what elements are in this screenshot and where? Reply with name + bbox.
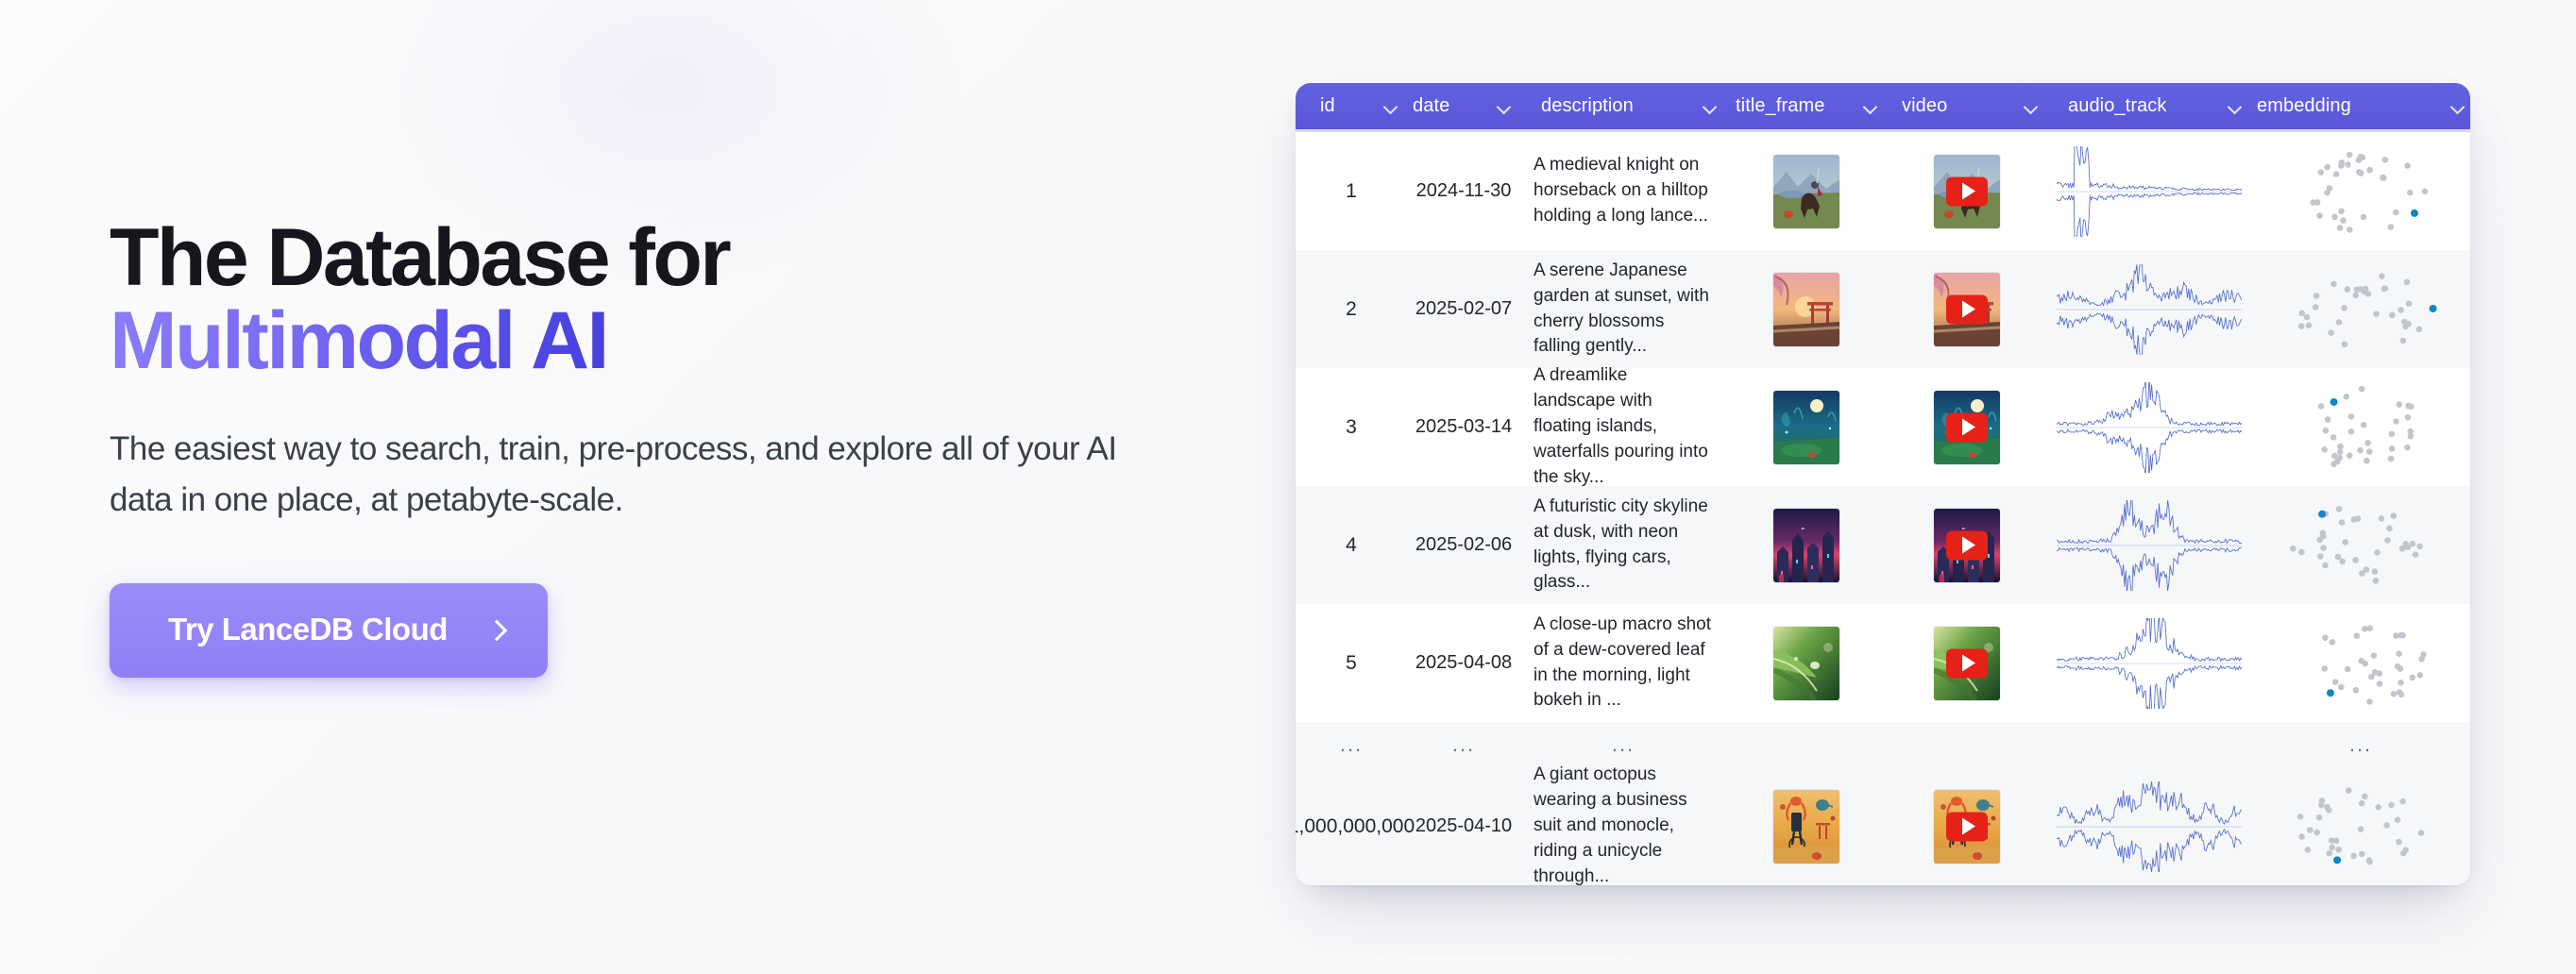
- play-button-icon[interactable]: [1946, 812, 1988, 841]
- column-header-title-frame[interactable]: title_frame: [1726, 83, 1887, 129]
- cell-video: [1887, 604, 2047, 722]
- knight-on-horseback-video[interactable]: [1934, 155, 2000, 228]
- ellipsis-cell: ...: [1407, 722, 1520, 767]
- chevron-down-icon[interactable]: [2228, 99, 2242, 113]
- cell-audio-track: [2047, 767, 2251, 885]
- table-ellipsis-row: .....................: [1296, 722, 2470, 767]
- dreamlike-landscape-video[interactable]: [1934, 391, 2000, 464]
- audio-waveform-swell[interactable]: [2057, 618, 2242, 709]
- cell-title-frame: [1726, 604, 1887, 722]
- table-row[interactable]: 22025-02-07A serene Japanese garden at s…: [1296, 250, 2470, 368]
- embedding-scatter-plot[interactable]: [2277, 614, 2445, 713]
- audio-waveform-noisy[interactable]: [2057, 781, 2242, 872]
- cell-title-frame: [1726, 486, 1887, 604]
- table-row[interactable]: 52025-04-08A close-up macro shot of a de…: [1296, 604, 2470, 722]
- chevron-down-icon[interactable]: [1863, 99, 1877, 113]
- play-button-icon[interactable]: [1946, 294, 1988, 324]
- futuristic-city-skyline-video[interactable]: [1934, 509, 2000, 582]
- column-header-audio-track[interactable]: audio_track: [2047, 83, 2251, 129]
- cell-audio-track: [2047, 604, 2251, 722]
- audio-waveform-twin-peaks[interactable]: [2057, 500, 2242, 591]
- cell-video: [1887, 486, 2047, 604]
- cell-embedding: [2251, 604, 2470, 722]
- cell-audio-track: [2047, 132, 2251, 250]
- column-header-date[interactable]: date: [1407, 83, 1520, 129]
- embedding-scatter-plot[interactable]: [2277, 778, 2445, 876]
- cell-id: 4: [1296, 486, 1407, 604]
- chevron-down-icon[interactable]: [1703, 99, 1717, 113]
- data-table-card: id date description title_frame video au…: [1296, 83, 2470, 885]
- chevron-down-icon[interactable]: [1497, 99, 1511, 113]
- cell-id: 3: [1296, 368, 1407, 486]
- page-subtitle: The easiest way to search, train, pre-pr…: [110, 424, 1181, 524]
- page-title-line-1: The Database for: [110, 212, 729, 303]
- column-header-label: id: [1320, 95, 1335, 117]
- chevron-down-icon[interactable]: [2024, 99, 2038, 113]
- cell-audio-track: [2047, 250, 2251, 368]
- play-button-icon[interactable]: [1946, 530, 1988, 560]
- column-header-label: title_frame: [1736, 95, 1824, 117]
- cell-title-frame: [1726, 132, 1887, 250]
- cell-id: 2: [1296, 250, 1407, 368]
- cell-id: 1,000,000,000: [1296, 767, 1407, 885]
- ellipsis-cell: ...: [2251, 722, 2470, 767]
- cell-id: 1: [1296, 132, 1407, 250]
- cell-embedding: [2251, 486, 2470, 604]
- giant-octopus-thumbnail[interactable]: [1773, 790, 1839, 864]
- dew-covered-leaf-video[interactable]: [1934, 627, 2000, 700]
- cell-description: A close-up macro shot of a dew-covered l…: [1520, 604, 1726, 722]
- cell-description: A serene Japanese garden at sunset, with…: [1520, 250, 1726, 368]
- cell-embedding: [2251, 767, 2470, 885]
- cell-description: A futuristic city skyline at dusk, with …: [1520, 486, 1726, 604]
- dreamlike-landscape-thumbnail[interactable]: [1773, 391, 1839, 464]
- knight-on-horseback-thumbnail[interactable]: [1773, 155, 1839, 228]
- play-button-icon[interactable]: [1946, 176, 1988, 206]
- cell-description: A medieval knight on horseback on a hill…: [1520, 132, 1726, 250]
- embedding-scatter-plot[interactable]: [2277, 378, 2445, 477]
- cell-date: 2025-02-07: [1407, 250, 1520, 368]
- play-button-icon[interactable]: [1946, 412, 1988, 442]
- cell-date: 2025-03-14: [1407, 368, 1520, 486]
- cell-audio-track: [2047, 368, 2251, 486]
- cell-video: [1887, 132, 2047, 250]
- cell-title-frame: [1726, 767, 1887, 885]
- japanese-garden-sunset-thumbnail[interactable]: [1773, 273, 1839, 346]
- column-header-label: audio_track: [2068, 95, 2167, 117]
- column-header-description[interactable]: description: [1520, 83, 1726, 129]
- chevron-down-icon[interactable]: [2450, 99, 2465, 113]
- ellipsis-cell: ...: [1726, 722, 1887, 767]
- column-header-label: video: [1902, 95, 1947, 117]
- ellipsis-cell: ...: [2047, 722, 2251, 767]
- table-row[interactable]: 42025-02-06A futuristic city skyline at …: [1296, 486, 2470, 604]
- column-header-id[interactable]: id: [1296, 83, 1407, 129]
- column-header-label: description: [1541, 95, 1634, 117]
- table-body: 12024-11-30A medieval knight on horsebac…: [1296, 132, 2470, 885]
- cell-description: A dreamlike landscape with floating isla…: [1520, 368, 1726, 486]
- cell-video: [1887, 368, 2047, 486]
- table-row[interactable]: 12024-11-30A medieval knight on horsebac…: [1296, 132, 2470, 250]
- column-header-label: date: [1413, 95, 1449, 117]
- cell-video: [1887, 767, 2047, 885]
- play-button-icon[interactable]: [1946, 648, 1988, 678]
- dew-covered-leaf-thumbnail[interactable]: [1773, 627, 1839, 700]
- embedding-scatter-plot[interactable]: [2277, 496, 2445, 595]
- ellipsis-cell: ...: [1296, 722, 1407, 767]
- ellipsis-cell: ...: [1520, 722, 1726, 767]
- chevron-down-icon[interactable]: [1383, 99, 1398, 113]
- cell-id: 5: [1296, 604, 1407, 722]
- cell-date: 2025-04-10: [1407, 767, 1520, 885]
- column-header-embedding[interactable]: embedding: [2251, 83, 2470, 129]
- cell-date: 2025-04-08: [1407, 604, 1520, 722]
- futuristic-city-skyline-thumbnail[interactable]: [1773, 509, 1839, 582]
- column-header-video[interactable]: video: [1887, 83, 2047, 129]
- table-header-row: id date description title_frame video au…: [1296, 83, 2470, 132]
- ellipsis-cell: ...: [1887, 722, 2047, 767]
- hero-section: The Database for Multimodal AI The easie…: [110, 217, 1224, 678]
- landing-page: The Database for Multimodal AI The easie…: [0, 0, 2576, 974]
- audio-waveform-decay[interactable]: [2057, 146, 2242, 237]
- cell-description: A giant octopus wearing a business suit …: [1520, 767, 1726, 885]
- cell-date: 2024-11-30: [1407, 132, 1520, 250]
- giant-octopus-video[interactable]: [1934, 790, 2000, 864]
- japanese-garden-sunset-video[interactable]: [1934, 273, 2000, 346]
- cta-label: Try LanceDB Cloud: [168, 612, 448, 647]
- embedding-scatter-plot[interactable]: [2277, 143, 2445, 241]
- cell-audio-track: [2047, 486, 2251, 604]
- cell-embedding: [2251, 368, 2470, 486]
- table-row[interactable]: 32025-03-14A dreamlike landscape with fl…: [1296, 368, 2470, 486]
- cell-embedding: [2251, 132, 2470, 250]
- page-title: The Database for Multimodal AI: [110, 217, 1224, 382]
- audio-waveform-dense[interactable]: [2057, 264, 2242, 355]
- cell-date: 2025-02-06: [1407, 486, 1520, 604]
- chevron-right-icon: [487, 621, 504, 638]
- embedding-scatter-plot[interactable]: [2277, 260, 2445, 359]
- cell-video: [1887, 250, 2047, 368]
- cell-title-frame: [1726, 368, 1887, 486]
- page-title-line-2: Multimodal AI: [110, 300, 607, 383]
- table-row[interactable]: 1,000,000,0002025-04-10A giant octopus w…: [1296, 767, 2470, 885]
- try-lancedb-cloud-button[interactable]: Try LanceDB Cloud: [110, 583, 548, 678]
- cell-title-frame: [1726, 250, 1887, 368]
- column-header-label: embedding: [2257, 95, 2351, 117]
- cell-embedding: [2251, 250, 2470, 368]
- audio-waveform-burst[interactable]: [2057, 382, 2242, 473]
